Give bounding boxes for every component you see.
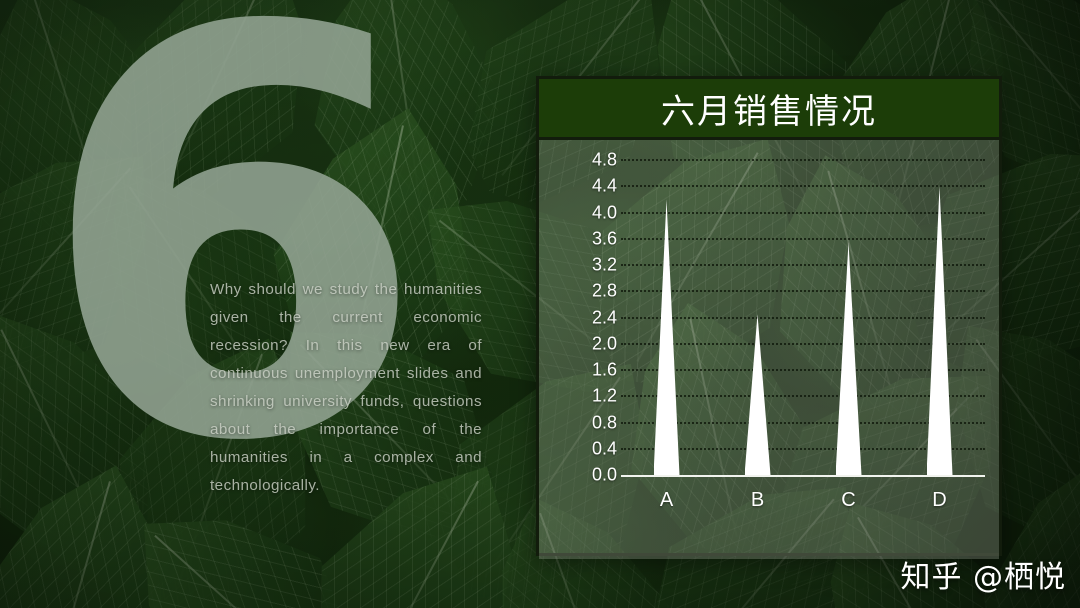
y-axis-tick-label: 3.2 — [592, 255, 617, 276]
x-axis-tick-label: B — [751, 489, 764, 512]
bar-A — [654, 199, 680, 475]
x-axis-tick-label: C — [841, 489, 855, 512]
y-axis-tick-label: 0.8 — [592, 412, 617, 433]
gridline — [621, 290, 985, 292]
y-axis-tick-label: 1.6 — [592, 360, 617, 381]
chart-canvas: 4.84.44.03.63.22.82.42.01.61.20.80.40.0A… — [539, 140, 999, 559]
y-axis-tick-label: 0.0 — [592, 465, 617, 486]
y-axis-tick-label: 2.0 — [592, 333, 617, 354]
gridline — [621, 238, 985, 240]
gridline — [621, 343, 985, 345]
gridline — [621, 159, 985, 161]
x-axis-tick-label: D — [932, 489, 946, 512]
y-axis-tick-label: 4.0 — [592, 202, 617, 223]
bar-C — [836, 242, 862, 475]
y-axis-tick-label: 2.8 — [592, 281, 617, 302]
y-axis-tick-label: 2.4 — [592, 307, 617, 328]
chart-title: 六月销售情况 — [661, 84, 877, 133]
chart-panel: 六月销售情况 4.84.44.03.63.22.82.42.01.61.20.8… — [536, 76, 1002, 556]
gridline — [621, 212, 985, 214]
chart-plot-area: 4.84.44.03.63.22.82.42.01.61.20.80.40.0A… — [539, 140, 999, 559]
gridline — [621, 264, 985, 266]
y-axis-tick-label: 4.8 — [592, 150, 617, 171]
x-axis-line — [621, 475, 985, 477]
y-axis-tick-label: 0.4 — [592, 438, 617, 459]
body-paragraph: Why should we study the humanities given… — [210, 276, 482, 500]
y-axis-tick-label: 4.4 — [592, 176, 617, 197]
x-axis-tick-label: A — [660, 489, 673, 512]
y-axis-tick-label: 3.6 — [592, 228, 617, 249]
watermark: 知乎 @栖悦 — [900, 552, 1066, 596]
chart-panel-header: 六月销售情况 — [539, 79, 999, 140]
slide-canvas: 6 Why should we study the humanities giv… — [0, 0, 1080, 608]
bar-D — [927, 186, 953, 475]
gridline — [621, 369, 985, 371]
gridline — [621, 185, 985, 187]
gridline — [621, 317, 985, 319]
y-axis-tick-label: 1.2 — [592, 386, 617, 407]
